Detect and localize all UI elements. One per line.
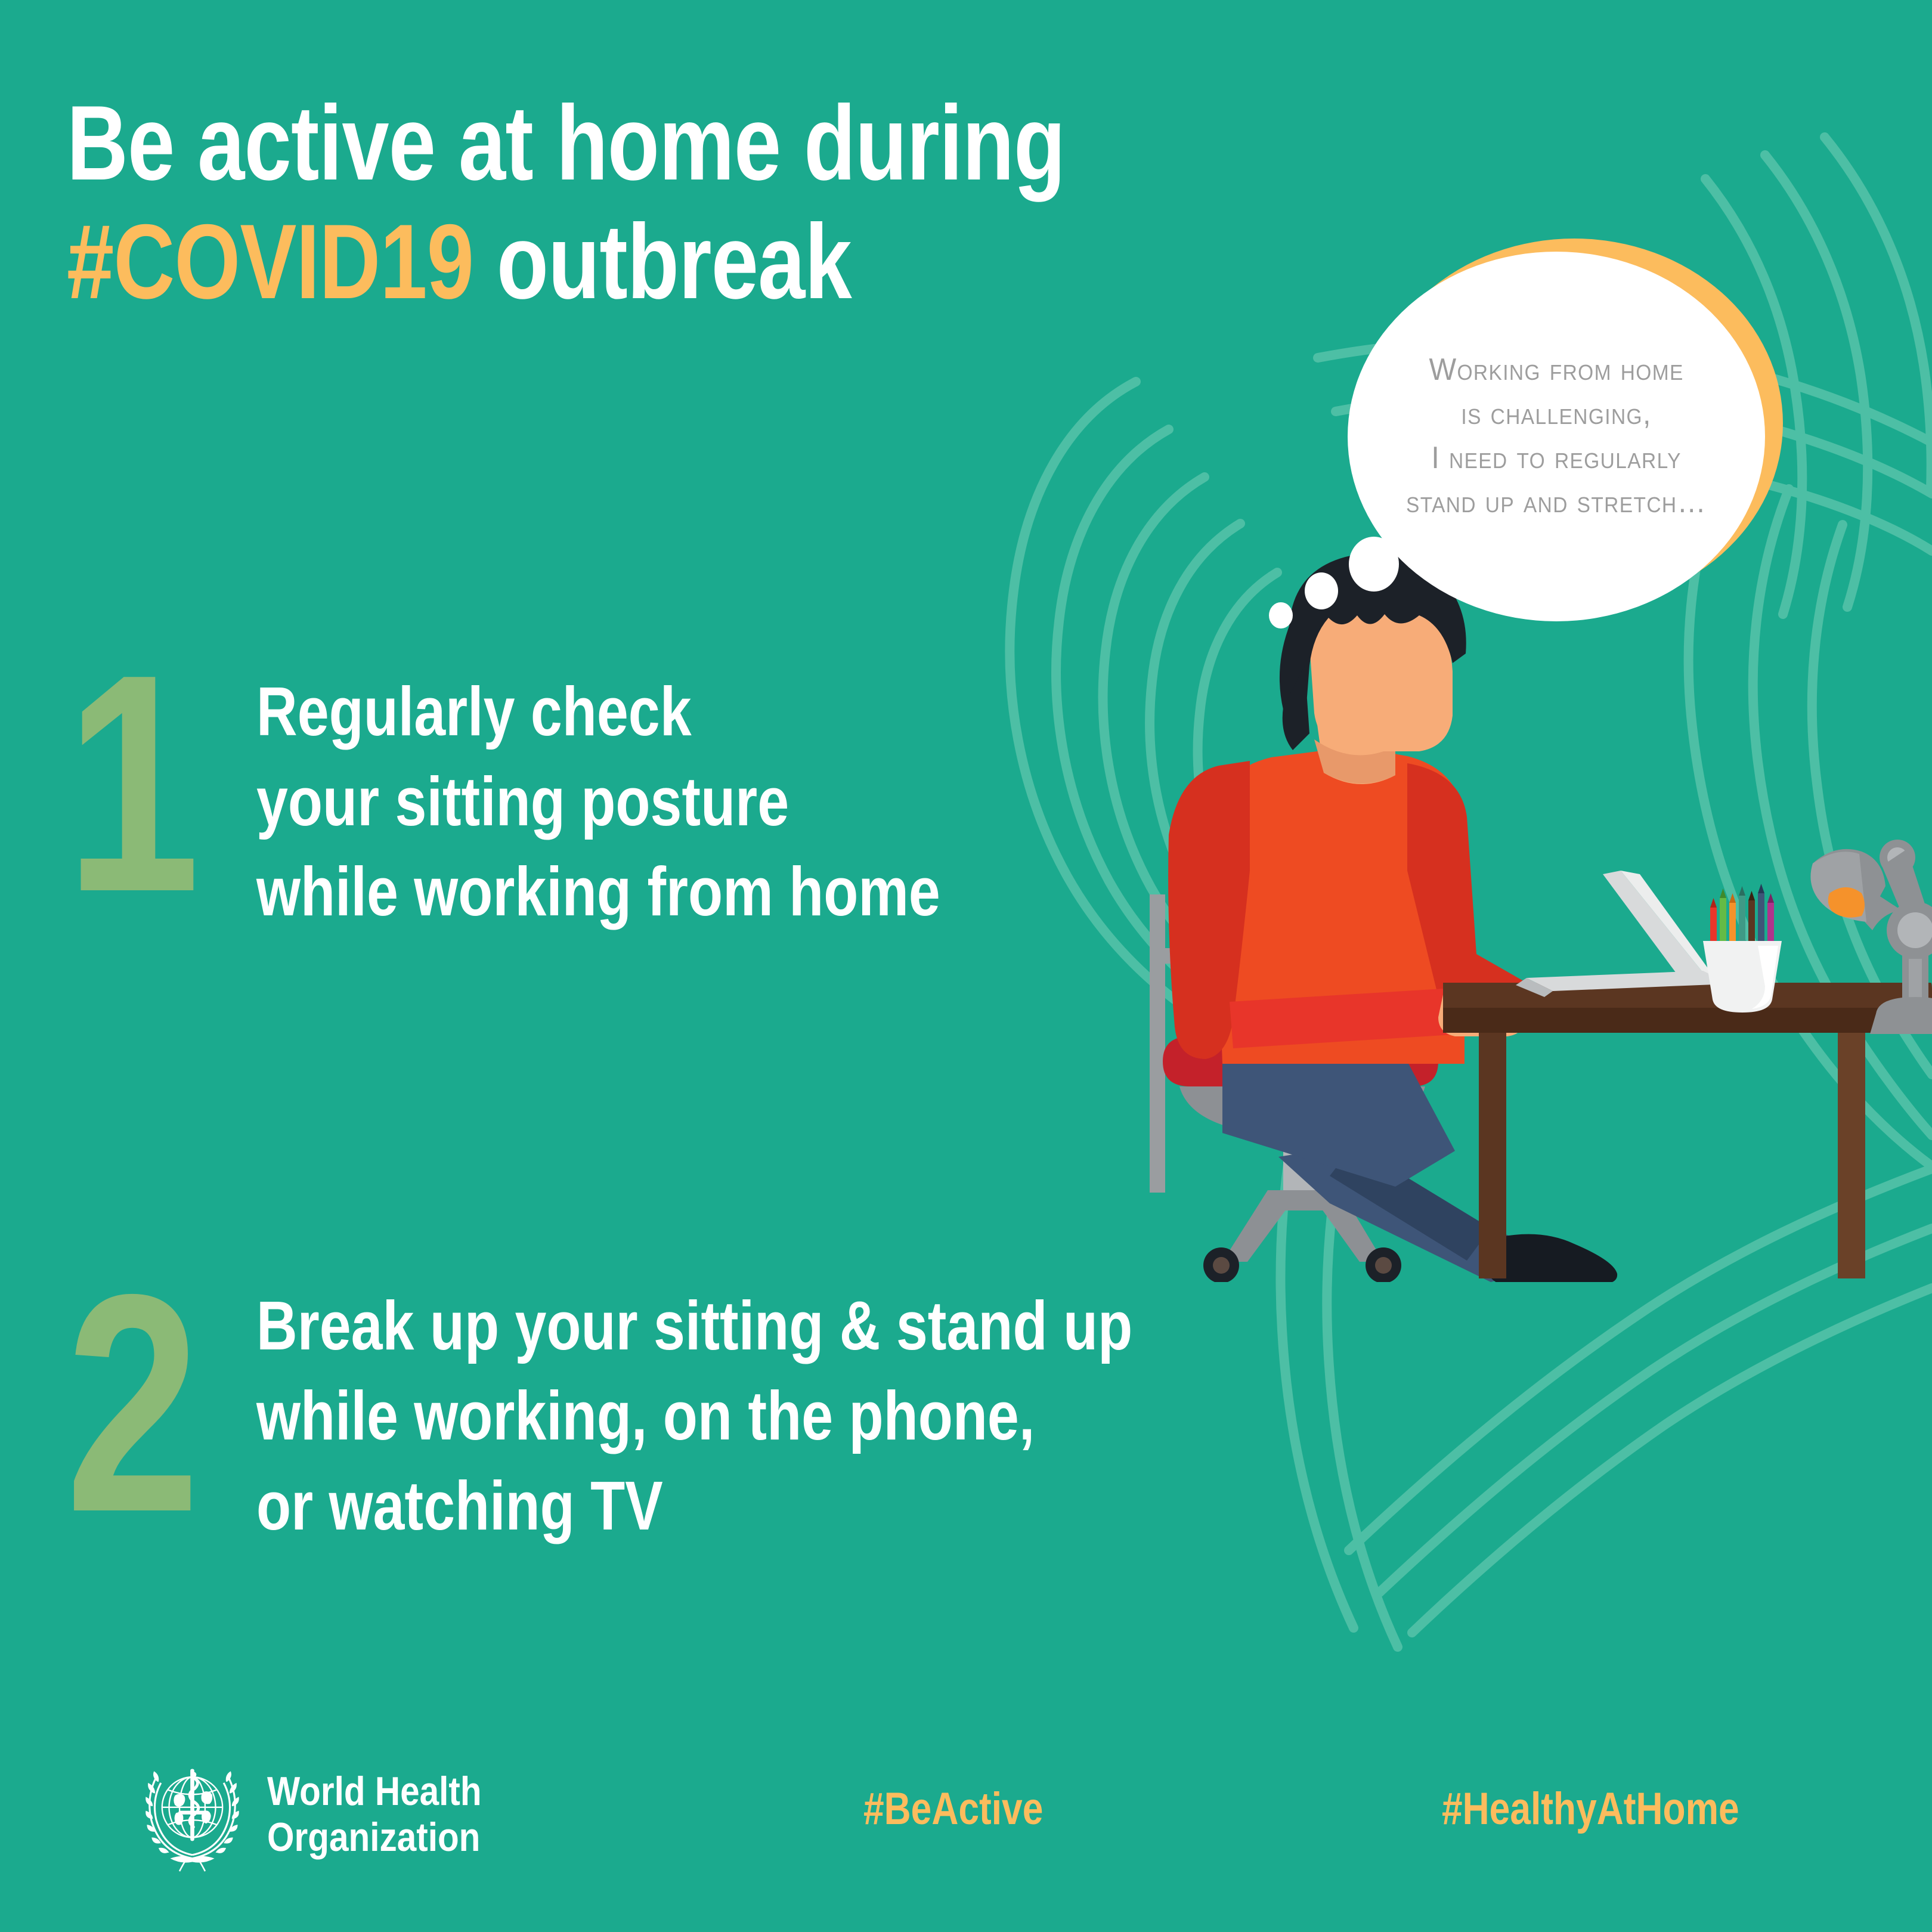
title-line-2: #COVID19 outbreak xyxy=(67,202,1045,321)
tip-number-1: 1 xyxy=(66,650,205,917)
tip-text-1: Regularly check your sitting posture whi… xyxy=(256,650,940,936)
title-line-1: Be active at home during xyxy=(67,83,1045,202)
hashtag-beactive: #BeActive xyxy=(863,1783,1043,1835)
hashtag-healthyathome: #HealthyAtHome xyxy=(1442,1783,1739,1835)
title-hashtag-covid19: #COVID19 xyxy=(67,202,473,321)
who-name: World Health Organization xyxy=(267,1769,482,1859)
thought-dot-medium xyxy=(1305,572,1338,609)
tip-text-2: Break up your sitting & stand up while w… xyxy=(256,1270,1132,1550)
thought-bubble-text: Working from home is challenging, I need… xyxy=(1384,348,1729,524)
tip-1-line-1: Regularly check xyxy=(256,667,940,757)
title-block: Be active at home during #COVID19 outbre… xyxy=(67,83,1289,321)
tip-1-line-2: your sitting posture xyxy=(256,757,940,847)
thought-bubble-body: Working from home is challenging, I need… xyxy=(1348,252,1765,621)
bubble-line-1: Working from home xyxy=(1406,348,1707,392)
tip-number-2: 2 xyxy=(66,1270,205,1537)
tip-item-2: 2 Break up your sitting & stand up while… xyxy=(66,1270,1325,1550)
tip-2-line-1: Break up your sitting & stand up xyxy=(256,1281,1132,1371)
tip-2-line-3: or watching TV xyxy=(256,1461,1132,1551)
bubble-line-2: is challenging, xyxy=(1406,392,1707,436)
who-name-line-1: World Health xyxy=(267,1769,482,1814)
bubble-line-4: stand up and stretch… xyxy=(1406,481,1707,525)
bubble-line-3: I need to regularly xyxy=(1406,436,1707,481)
tip-item-1: 1 Regularly check your sitting posture w… xyxy=(66,650,1091,936)
thought-dot-small xyxy=(1269,602,1293,628)
title-outbreak-word: outbreak xyxy=(473,202,852,321)
tip-1-line-3: while working from home xyxy=(256,847,940,937)
illustration-person-at-desk xyxy=(1073,537,1932,1282)
who-emblem-icon xyxy=(134,1756,250,1872)
poster-root: Be active at home during #COVID19 outbre… xyxy=(0,0,1932,1932)
tip-2-line-2: while working, on the phone, xyxy=(256,1371,1132,1461)
who-logo: World Health Organization xyxy=(134,1756,516,1872)
who-name-line-2: Organization xyxy=(267,1815,482,1860)
